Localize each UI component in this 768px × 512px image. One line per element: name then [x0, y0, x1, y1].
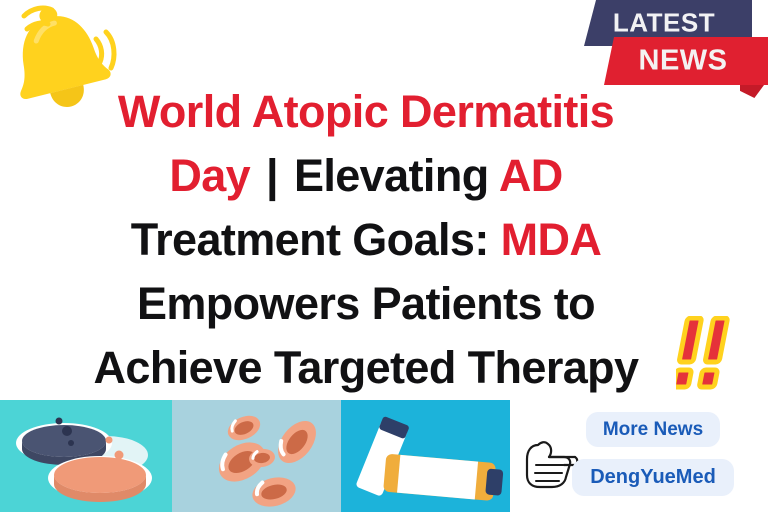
badge-news-banner: NEWS: [604, 37, 768, 85]
page-title: World Atopic Dermatitis Day | Elevating …: [36, 80, 696, 400]
more-news-button[interactable]: More News: [586, 412, 720, 447]
headline-line-3: Treatment Goals: MDA: [36, 208, 696, 272]
headline-line-1: World Atopic Dermatitis: [36, 80, 696, 144]
image-panel-inhaler: [341, 400, 510, 512]
headline-line-2: Day | Elevating AD: [36, 144, 696, 208]
headline-seg: Empowers Patients to: [137, 278, 595, 329]
news-banner-canvas: LATEST NEWS World Atopic Dermatitis Day …: [0, 0, 768, 512]
image-panel-blood-cells: [172, 400, 341, 512]
headline-seg: Elevating: [294, 150, 499, 201]
headline-seg: Treatment Goals:: [131, 214, 501, 265]
headline-seg: Achieve Targeted Therapy: [94, 342, 639, 393]
latest-news-badge: LATEST NEWS: [568, 0, 768, 92]
image-strip: [0, 400, 510, 512]
headline-seg: World Atopic Dermatitis: [118, 86, 614, 137]
brand-button[interactable]: DengYueMed: [572, 459, 734, 496]
headline-seg: Day: [169, 150, 250, 201]
badge-latest-label: LATEST: [584, 8, 744, 39]
headline-seg: MDA: [501, 214, 602, 265]
badge-ribbon-tail: [740, 85, 764, 98]
headline-line-5: Achieve Targeted Therapy: [36, 336, 696, 400]
double-exclamation-icon: [676, 316, 740, 392]
image-panel-petri-dish: [0, 400, 172, 512]
pointing-hand-icon: [518, 437, 580, 491]
headline-line-4: Empowers Patients to: [36, 272, 696, 336]
badge-news-label: NEWS: [608, 45, 758, 78]
headline-seg: AD: [499, 150, 563, 201]
headline-seg-divider: |: [262, 150, 282, 201]
